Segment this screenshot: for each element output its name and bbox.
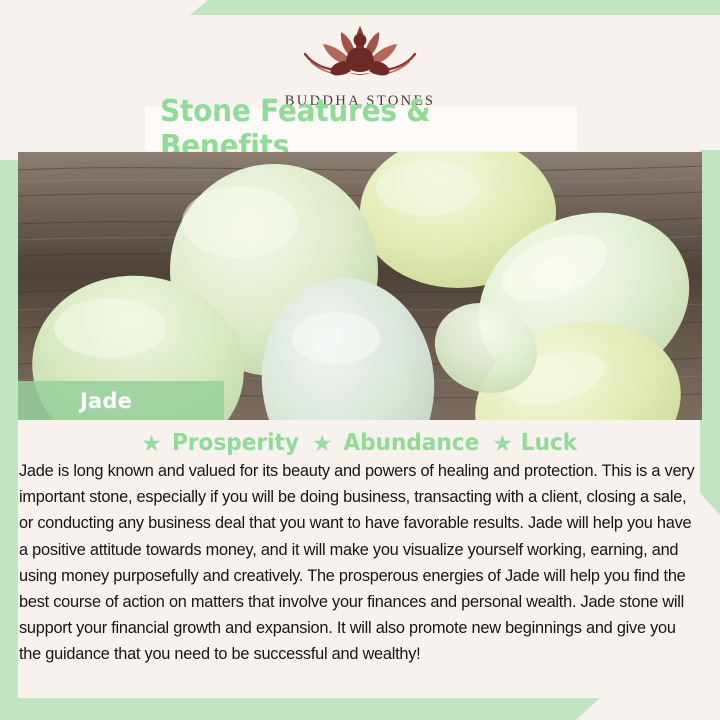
stone-name-banner: Jade <box>18 381 224 420</box>
stone-photo <box>18 152 702 420</box>
keyword-luck: ★ Luck <box>492 430 579 456</box>
decorative-band-bottom <box>0 698 600 720</box>
decorative-band-right <box>700 150 720 515</box>
star-icon: ★ <box>492 432 513 455</box>
jade-stones-image <box>18 152 702 420</box>
keyword-row: ★ Prosperity ★ Abundance ★ Luck <box>0 430 720 456</box>
infographic-page: BUDDHA STONES Stone Features & Benefits <box>0 0 720 720</box>
keyword-label: Abundance <box>343 430 479 456</box>
keyword-abundance: ★ Abundance <box>312 430 483 456</box>
stone-name: Jade <box>80 389 132 413</box>
description-text: Jade is long known and valued for its be… <box>19 458 695 668</box>
keyword-label: Luck <box>521 430 577 456</box>
decorative-band-top <box>190 0 720 15</box>
star-icon: ★ <box>141 432 162 455</box>
lotus-meditation-icon <box>285 18 435 90</box>
star-icon: ★ <box>312 432 333 455</box>
section-title-band: Stone Features & Benefits <box>145 107 577 151</box>
keyword-prosperity: ★ Prosperity <box>141 430 303 456</box>
keyword-label: Prosperity <box>172 430 299 456</box>
